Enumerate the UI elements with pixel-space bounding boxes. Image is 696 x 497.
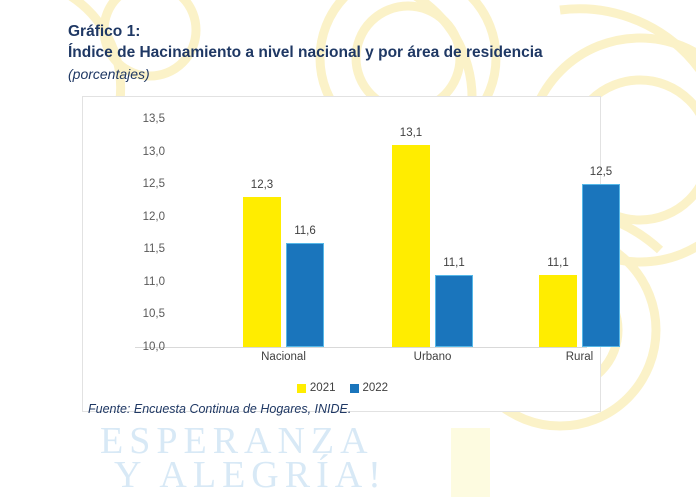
y-axis-tick-label: 11,5 xyxy=(121,243,165,255)
bar-value-label: 11,6 xyxy=(280,225,330,237)
page-title: Gráfico 1: Índice de Hacinamiento a nive… xyxy=(68,22,543,84)
x-axis-category-label: Urbano xyxy=(373,351,493,363)
plot-area: 13,513,012,512,011,511,010,510,012,311,6… xyxy=(83,97,602,413)
bar-nacional-2021 xyxy=(243,197,281,347)
y-axis-tick-label: 12,0 xyxy=(121,211,165,223)
watermark-line-2: Y ALEGRÍA! xyxy=(100,458,387,492)
watermark-line-1: ESPERANZA xyxy=(100,424,387,458)
x-axis-category-label: Nacional xyxy=(224,351,344,363)
bar-rural-2021 xyxy=(539,275,577,347)
bar-value-label: 11,1 xyxy=(533,257,583,269)
source-note: Fuente: Encuesta Continua de Hogares, IN… xyxy=(88,402,351,416)
bar-urbano-2021 xyxy=(392,145,430,347)
legend-label: 2022 xyxy=(363,382,389,394)
y-axis-tick-label: 11,0 xyxy=(121,276,165,288)
legend-label: 2021 xyxy=(310,382,336,394)
bar-urbano-2022 xyxy=(435,275,473,347)
figure-label: Gráfico 1: xyxy=(68,22,543,42)
legend-swatch-icon xyxy=(350,384,359,393)
legend-swatch-icon xyxy=(297,384,306,393)
bar-nacional-2022 xyxy=(286,243,324,347)
legend-item-2021[interactable]: 2021 xyxy=(297,382,336,394)
bar-rural-2022 xyxy=(582,184,620,347)
legend-item-2022[interactable]: 2022 xyxy=(350,382,389,394)
x-axis-category-label: Rural xyxy=(520,351,640,363)
bar-value-label: 12,5 xyxy=(576,166,626,178)
chart-container: 13,513,012,512,011,511,010,510,012,311,6… xyxy=(82,96,601,412)
chart-units: (porcentajes) xyxy=(68,64,543,84)
bar-value-label: 12,3 xyxy=(237,179,287,191)
accent-block xyxy=(451,428,490,497)
chart-title: Índice de Hacinamiento a nivel nacional … xyxy=(68,42,543,64)
y-axis-tick-label: 13,5 xyxy=(121,113,165,125)
y-axis-tick-label: 10,5 xyxy=(121,308,165,320)
y-axis-tick-label: 13,0 xyxy=(121,146,165,158)
y-axis-tick-label: 12,5 xyxy=(121,178,165,190)
watermark-text: ESPERANZA Y ALEGRÍA! xyxy=(100,424,387,492)
x-axis-line xyxy=(135,347,587,348)
bar-value-label: 11,1 xyxy=(429,257,479,269)
chart-legend: 20212022 xyxy=(83,382,602,394)
bar-value-label: 13,1 xyxy=(386,127,436,139)
y-axis-tick-label: 10,0 xyxy=(121,341,165,353)
